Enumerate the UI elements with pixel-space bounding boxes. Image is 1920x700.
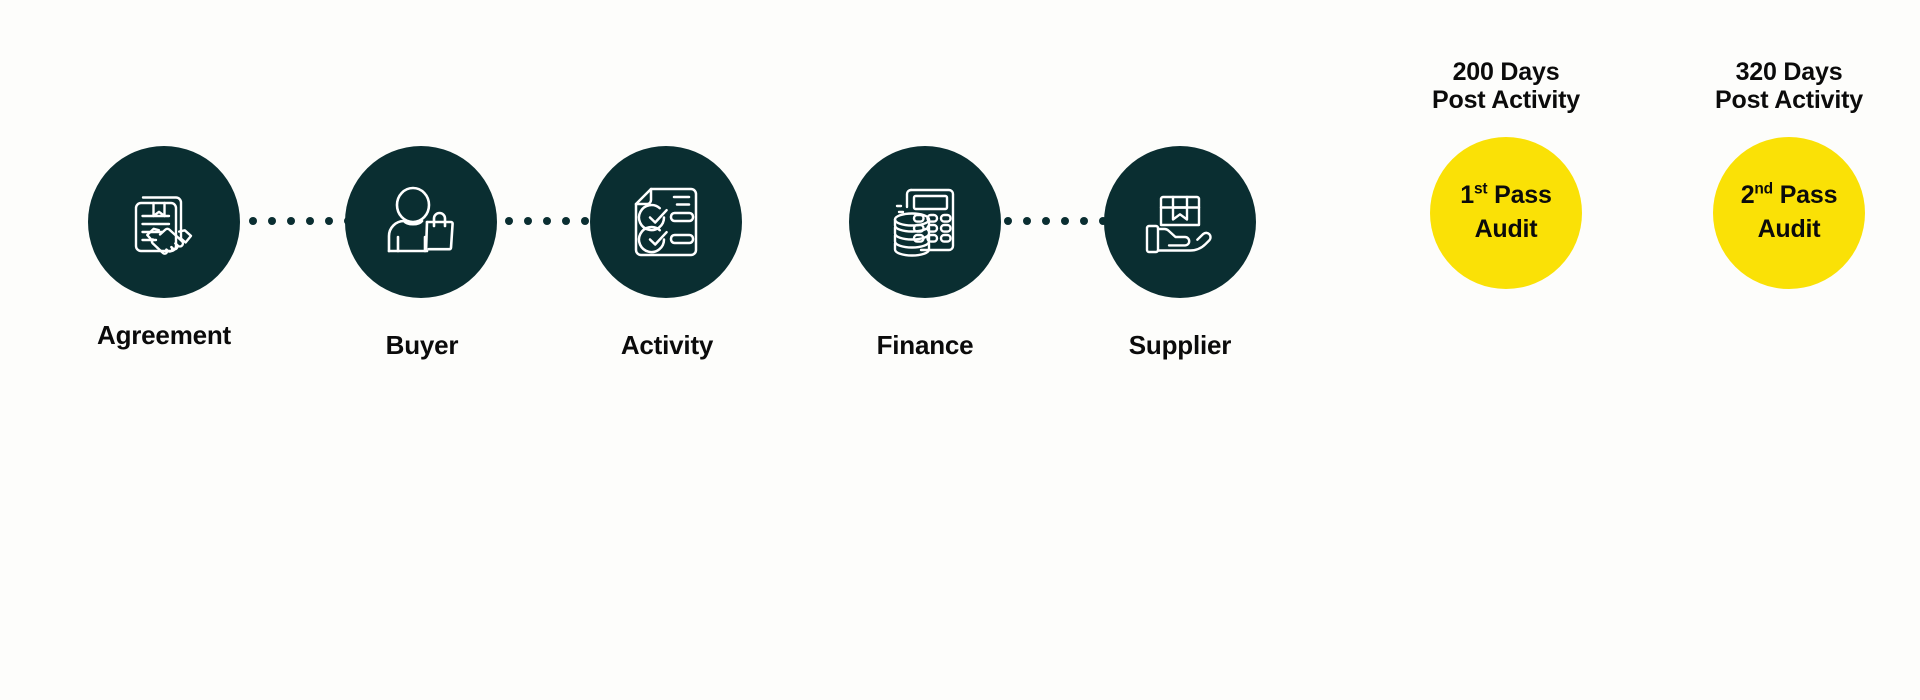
second-pass-audit-ordinal: nd: [1754, 181, 1773, 198]
finance-calculator-coins-icon: [885, 182, 965, 262]
first-pass-audit-word: Pass: [1494, 181, 1552, 209]
first-pass-audit-line1: 1st Pass: [1460, 181, 1551, 210]
supplier-node-circle[interactable]: [1104, 146, 1256, 298]
connector-dot: [505, 217, 513, 225]
connector-dot: [1061, 217, 1069, 225]
agreement-node-circle[interactable]: [88, 146, 240, 298]
buyer-person-shopping-bag-icon: [380, 181, 462, 263]
second-pass-audit-line1: 2nd Pass: [1741, 181, 1838, 210]
first-pass-audit-ordinal: st: [1474, 181, 1487, 198]
connector-dot: [562, 217, 570, 225]
connector-dot: [543, 217, 551, 225]
second-pass-audit-badge[interactable]: 2nd Pass Audit: [1713, 137, 1865, 289]
connector-dot: [1042, 217, 1050, 225]
connector-dot: [1004, 217, 1012, 225]
connector-dot: [524, 217, 532, 225]
milestone-caption-1: 200 Days Post Activity: [1430, 58, 1582, 115]
process-step-label-activity: Activity: [621, 330, 713, 361]
first-pass-audit-number: 1: [1460, 181, 1474, 209]
supplier-hand-holding-box-icon: [1140, 182, 1220, 262]
agreement-handshake-document-icon: [122, 180, 206, 264]
connector-dot: [1023, 217, 1031, 225]
activity-node-circle[interactable]: [590, 146, 742, 298]
milestone-caption-2-line2: Post Activity: [1713, 86, 1865, 114]
finance-node-circle[interactable]: [849, 146, 1001, 298]
connector-dot: [1080, 217, 1088, 225]
connector-dot: [249, 217, 257, 225]
activity-checklist-document-icon: [626, 182, 706, 262]
milestone-caption-1-line2: Post Activity: [1430, 86, 1582, 114]
second-pass-audit-word: Pass: [1780, 181, 1838, 209]
buyer-node-circle[interactable]: [345, 146, 497, 298]
connector-dot: [268, 217, 276, 225]
milestone-caption-2-line1: 320 Days: [1713, 58, 1865, 86]
milestone-caption-1-line1: 200 Days: [1430, 58, 1582, 86]
second-pass-audit-line2: Audit: [1758, 215, 1821, 244]
connector-dot: [325, 217, 333, 225]
connector-dot: [306, 217, 314, 225]
second-pass-audit-number: 2: [1741, 181, 1755, 209]
milestone-first-pass-audit[interactable]: 200 Days Post Activity 1st Pass Audit: [1430, 58, 1582, 289]
milestone-second-pass-audit[interactable]: 320 Days Post Activity 2nd Pass Audit: [1713, 58, 1865, 289]
process-step-label-supplier: Supplier: [1129, 330, 1231, 361]
first-pass-audit-line2: Audit: [1475, 215, 1538, 244]
connector-dot: [287, 217, 295, 225]
milestone-caption-2: 320 Days Post Activity: [1713, 58, 1865, 115]
connector-dot: [581, 217, 589, 225]
diagram-canvas: Agreement: [0, 0, 1920, 700]
process-step-label-buyer: Buyer: [386, 330, 459, 361]
process-step-label-finance: Finance: [877, 330, 974, 361]
first-pass-audit-badge[interactable]: 1st Pass Audit: [1430, 137, 1582, 289]
process-step-label-agreement: Agreement: [97, 320, 231, 351]
